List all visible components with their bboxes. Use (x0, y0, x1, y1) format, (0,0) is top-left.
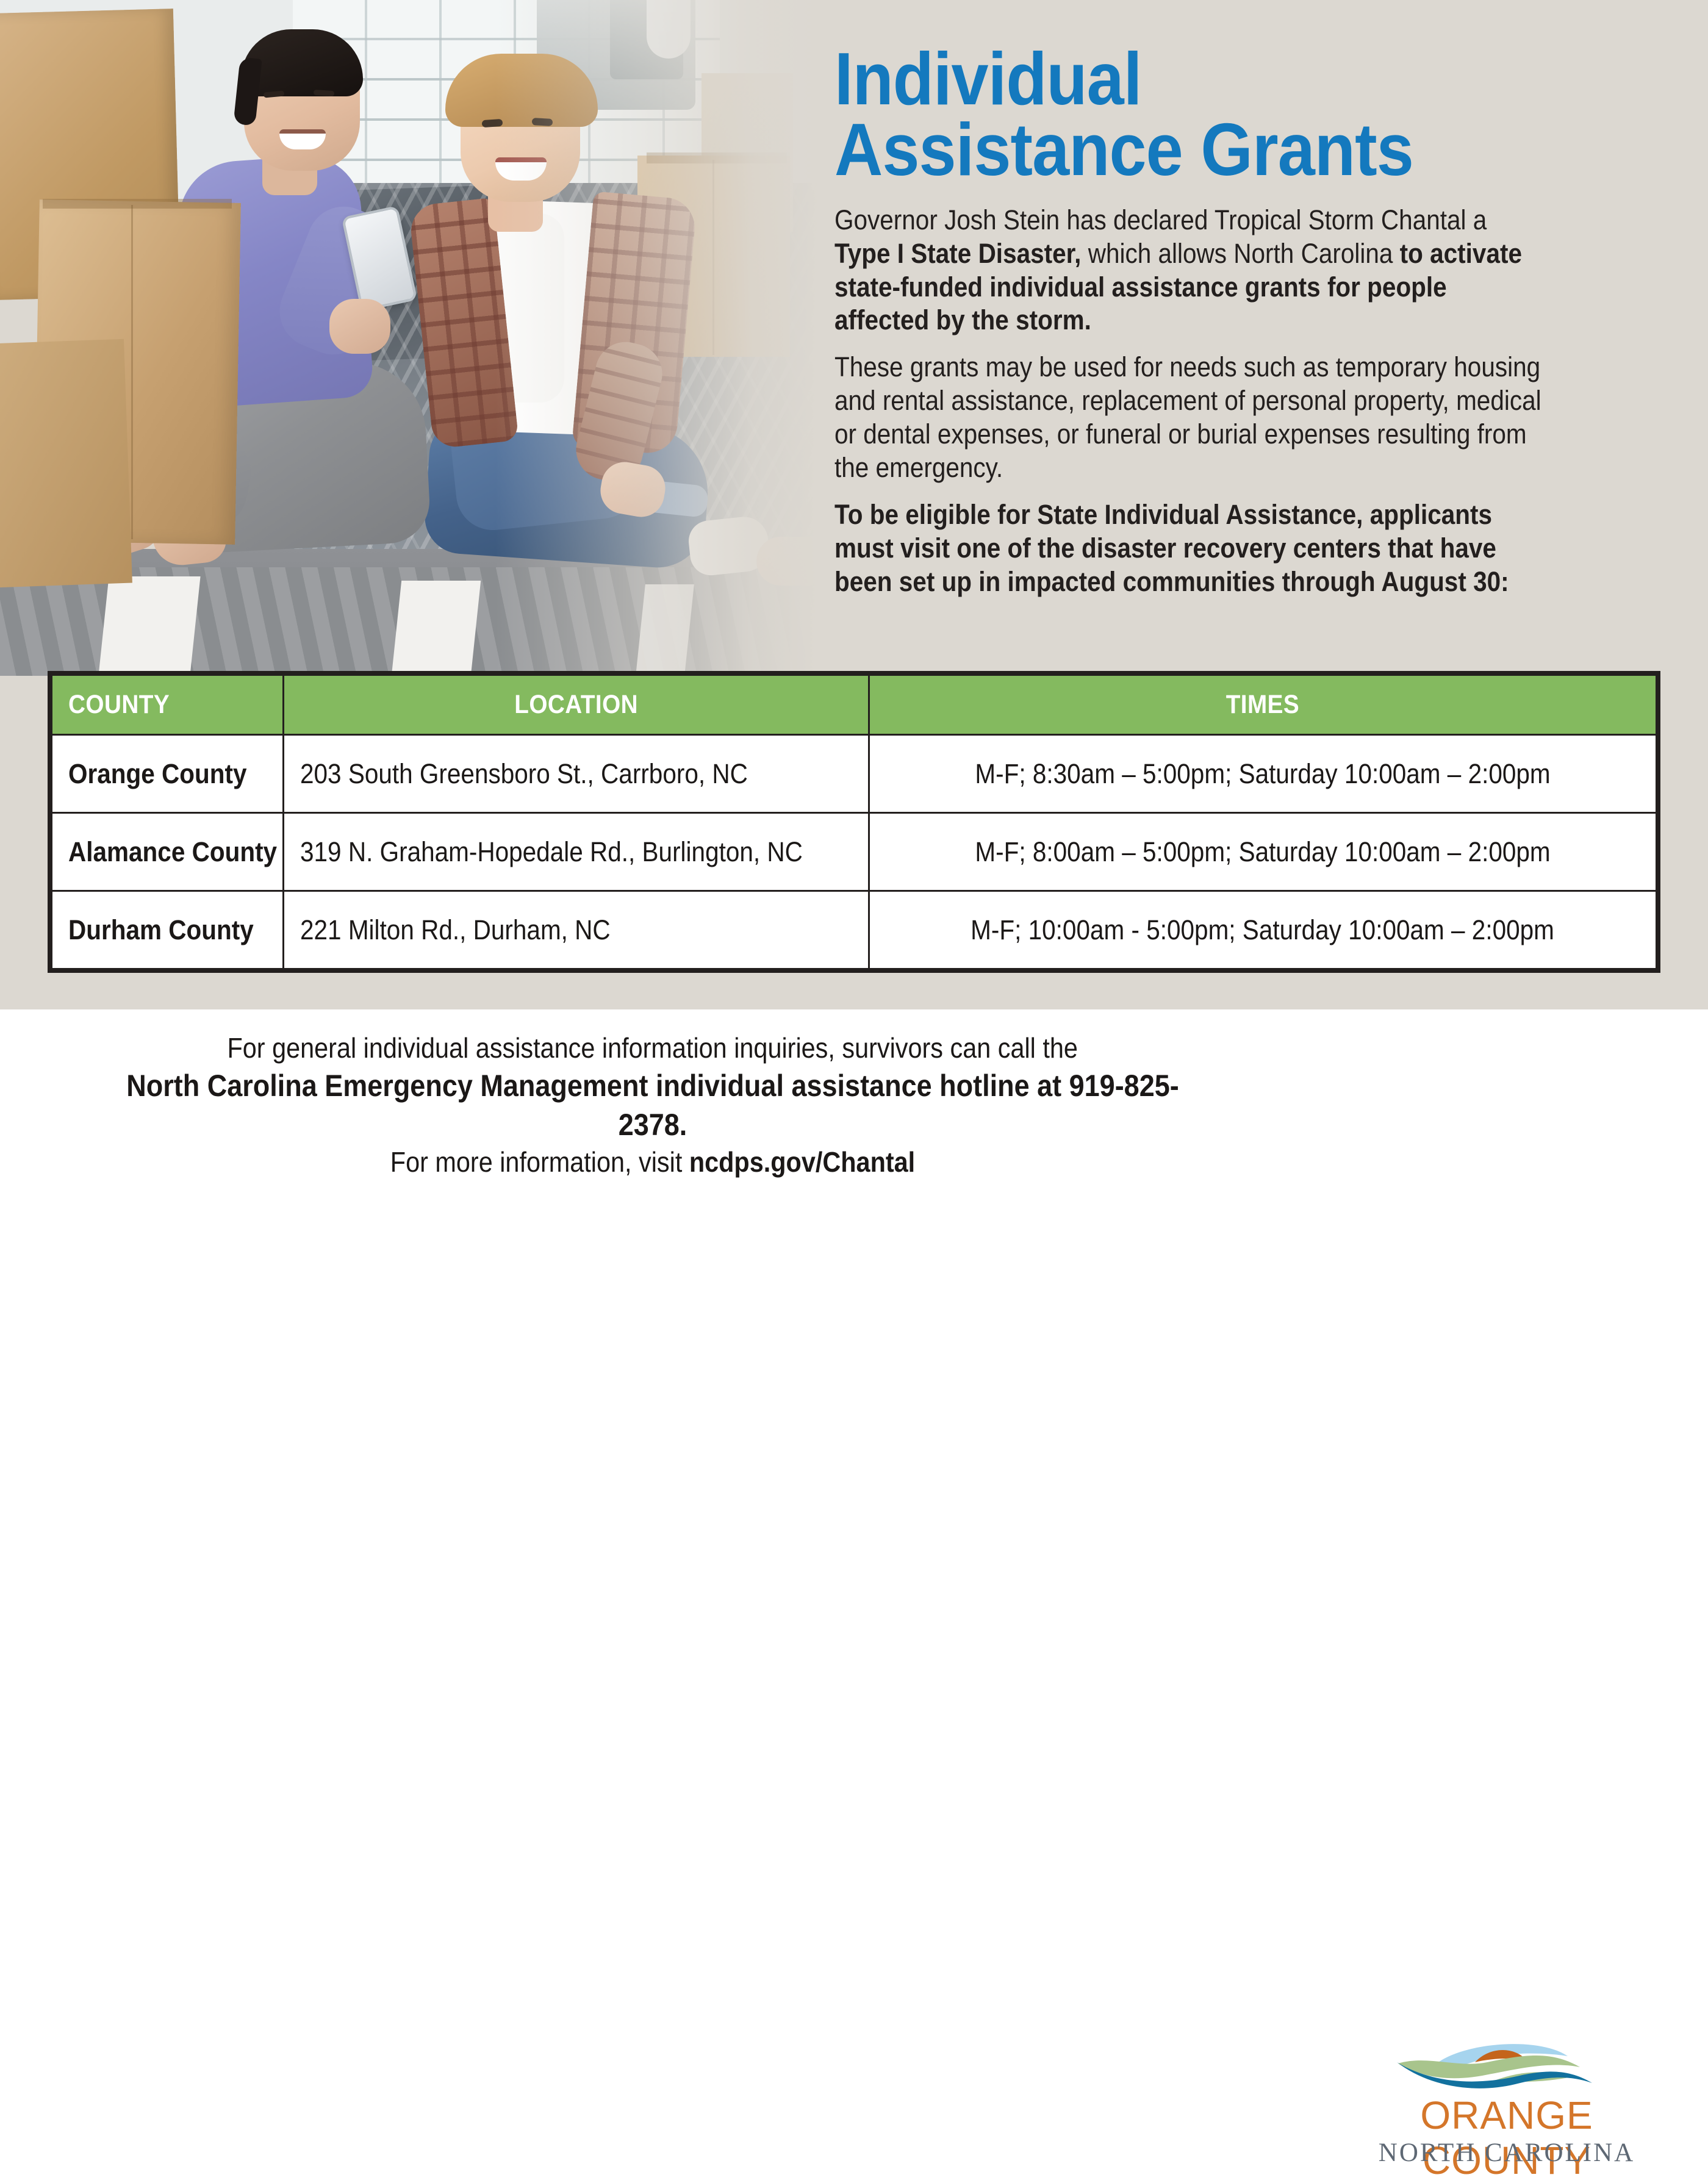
column-header-county-label: COUNTY (68, 690, 170, 720)
cell-county: Alamance County (52, 813, 284, 891)
content-column: IndividualAssistance Grants Governor Jos… (834, 44, 1627, 612)
table-header-row: COUNTY LOCATION TIMES (52, 675, 1657, 735)
drc-table-container: COUNTY LOCATION TIMES Orange County 203 … (48, 671, 1660, 973)
footer-line-2: North Carolina Emergency Management indi… (37, 1066, 1269, 1144)
footer-text-block: For general individual assistance inform… (37, 1030, 1269, 1180)
cell-times: M-F; 10:00am - 5:00pm; Saturday 10:00am … (869, 891, 1657, 969)
intro-text-c: which allows North Carolina (1081, 238, 1399, 269)
column-header-location-label: LOCATION (514, 690, 638, 720)
times-value: M-F; 8:30am – 5:00pm; Saturday 10:00am –… (975, 758, 1550, 790)
uses-paragraph: These grants may be used for needs such … (834, 351, 1548, 485)
column-header-times-label: TIMES (1226, 690, 1300, 720)
intro-text-b: Type I State Disaster, (834, 238, 1081, 269)
location-value: 203 South Greensboro St., Carrboro, NC (300, 758, 748, 790)
footer-line-3: For more information, visit ncdps.gov/Ch… (37, 1144, 1269, 1180)
intro-text-a: Governor Josh Stein has declared Tropica… (834, 204, 1487, 235)
table-body: Orange County 203 South Greensboro St., … (52, 735, 1657, 969)
footer-more-info-label: For more information, visit (390, 1146, 689, 1178)
poster-root: IndividualAssistance Grants Governor Jos… (0, 0, 1708, 1207)
hero-photo (0, 0, 854, 676)
cell-county: Durham County (52, 891, 284, 969)
cell-times: M-F; 8:30am – 5:00pm; Saturday 10:00am –… (869, 735, 1657, 813)
cell-county: Orange County (52, 735, 284, 813)
column-header-location: LOCATION (284, 675, 869, 735)
times-value: M-F; 8:00am – 5:00pm; Saturday 10:00am –… (975, 836, 1550, 868)
eligibility-paragraph: To be eligible for State Individual Assi… (834, 498, 1548, 599)
column-header-times: TIMES (869, 675, 1657, 735)
footer-url-link[interactable]: ncdps.gov/Chantal (689, 1146, 915, 1178)
logo-swoosh-icon (1385, 2039, 1629, 2095)
cell-location: 319 N. Graham-Hopedale Rd., Burlington, … (284, 813, 869, 891)
footer-line-1: For general individual assistance inform… (37, 1030, 1269, 1066)
drc-table: COUNTY LOCATION TIMES Orange County 203 … (51, 674, 1657, 970)
footer-hotline-label: North Carolina Emergency Management indi… (98, 1066, 1207, 1144)
table-head: COUNTY LOCATION TIMES (52, 675, 1657, 735)
county-value: Alamance County (68, 836, 277, 868)
table-row: Orange County 203 South Greensboro St., … (52, 735, 1657, 813)
county-value: Orange County (68, 758, 247, 790)
title-line-2: Assistance Grants (834, 108, 1413, 191)
table-row: Durham County 221 Milton Rd., Durham, NC… (52, 891, 1657, 969)
cell-location: 221 Milton Rd., Durham, NC (284, 891, 869, 969)
footer: For general individual assistance inform… (0, 1009, 1708, 1207)
cell-location: 203 South Greensboro St., Carrboro, NC (284, 735, 869, 813)
cell-times: M-F; 8:00am – 5:00pm; Saturday 10:00am –… (869, 813, 1657, 891)
table-row: Alamance County 319 N. Graham-Hopedale R… (52, 813, 1657, 891)
location-value: 319 N. Graham-Hopedale Rd., Burlington, … (300, 836, 803, 868)
logo-subtitle: NORTH CAROLINA (1342, 2138, 1671, 2168)
county-value: Durham County (68, 914, 254, 946)
location-value: 221 Milton Rd., Durham, NC (300, 914, 611, 946)
orange-county-logo: ORANGE COUNTY NORTH CAROLINA (1342, 2039, 1671, 2179)
footer-line-3-wrap: For more information, visit ncdps.gov/Ch… (390, 1144, 915, 1180)
intro-paragraph: Governor Josh Stein has declared Tropica… (834, 204, 1548, 338)
times-value: M-F; 10:00am - 5:00pm; Saturday 10:00am … (971, 914, 1555, 946)
footer-line-1-label: For general individual assistance inform… (228, 1030, 1078, 1066)
page-title: IndividualAssistance Grants (834, 44, 1548, 185)
column-header-county: COUNTY (52, 675, 284, 735)
photo-gradient-fade (0, 0, 854, 676)
